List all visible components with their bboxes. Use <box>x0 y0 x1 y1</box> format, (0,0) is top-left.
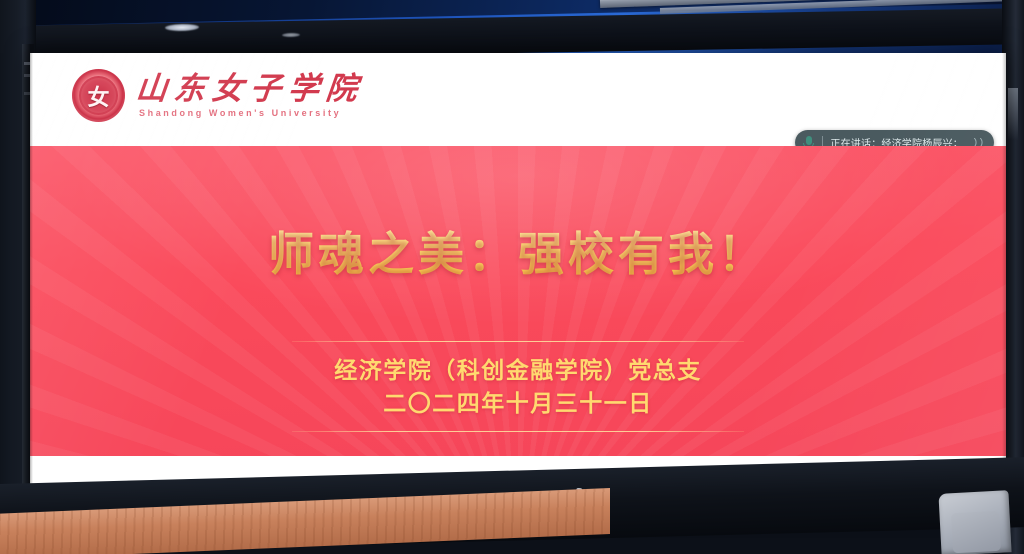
university-logo-text: 山东女子学院 Shandong Women's University <box>136 73 364 118</box>
slide-subtitle-block: 经济学院（科创金融学院）党总支 二〇二四年十月三十一日 <box>292 341 744 432</box>
slide-organization: 经济学院（科创金融学院）党总支 <box>292 355 744 388</box>
projection-screen: 山东女子学院 Shandong Women's University 正在讲话：… <box>30 53 1006 505</box>
conference-room-scene: 山东女子学院 Shandong Women's University 正在讲话：… <box>0 0 1024 554</box>
subtitle-text-group: 经济学院（科创金融学院）党总支 二〇二四年十月三十一日 <box>292 342 744 431</box>
slide-header: 山东女子学院 Shandong Women's University 正在讲话：… <box>30 53 1006 146</box>
slide-body: 师魂之美：强校有我！ 经济学院（科创金融学院）党总支 二〇二四年十月三十一日 <box>30 146 1006 456</box>
university-name-en: Shandong Women's University <box>136 108 364 118</box>
slide-title: 师魂之美：强校有我！ <box>30 218 1006 284</box>
university-logo: 山东女子学院 Shandong Women's University <box>72 69 364 122</box>
university-name-cn: 山东女子学院 <box>134 73 365 106</box>
slide-date: 二〇二四年十月三十一日 <box>292 388 744 421</box>
university-seal-icon <box>72 69 125 122</box>
right-wall-highlight <box>1008 88 1018 140</box>
subtitle-divider-bottom <box>292 431 744 432</box>
chair-seat <box>951 511 1001 553</box>
